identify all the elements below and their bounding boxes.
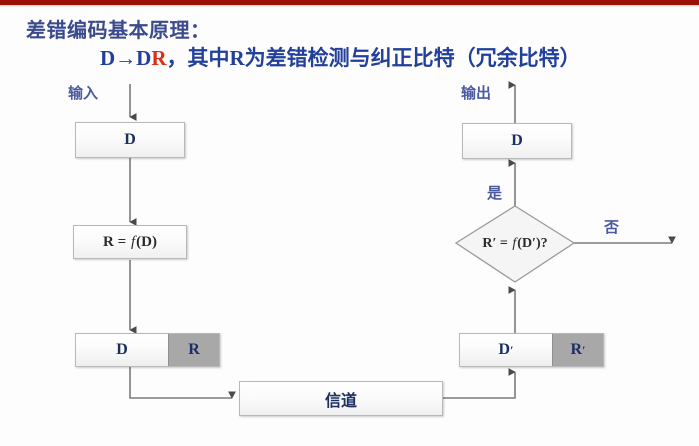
label-output: 输出 [461, 82, 491, 103]
decision-function: f [511, 236, 517, 252]
decision-equals: = [500, 236, 508, 252]
node-output-data-label: D [511, 132, 523, 150]
node-received-frame[interactable]: D′ R′ [459, 333, 604, 367]
node-encoder-data[interactable]: D [75, 122, 185, 158]
label-input: 输入 [68, 82, 98, 103]
received-redundancy-label: R [571, 341, 583, 359]
wire-channel-to-received [443, 372, 515, 398]
node-decision-label: R′ = f(D′)? [456, 206, 574, 282]
frame-data-cell: D [76, 334, 168, 366]
received-data-prime: ′ [510, 343, 513, 358]
decision-argument: (D′)? [517, 236, 547, 252]
node-compute-redundancy-label: R = f(D) [103, 234, 157, 251]
received-data-label: D [499, 341, 511, 359]
node-encoder-data-label: D [124, 131, 136, 149]
connector-layer [0, 0, 699, 446]
node-channel[interactable]: 信道 [239, 381, 443, 416]
wire-frame-to-channel [130, 367, 232, 398]
label-no: 否 [604, 216, 619, 237]
compute-argument: (D) [136, 234, 157, 250]
compute-equals: = [118, 234, 127, 250]
received-redundancy-cell: R′ [552, 334, 603, 366]
node-compute-redundancy[interactable]: R = f(D) [73, 225, 187, 259]
frame-redundancy-label: R [188, 341, 200, 359]
decision-lhs: R′ [482, 236, 496, 252]
slide-canvas: 差错编码基本原理： D→DR，其中R为差错检测与纠正比特（冗余比特） [0, 0, 699, 446]
received-redundancy-prime: ′ [582, 343, 585, 358]
label-yes: 是 [487, 182, 502, 203]
frame-redundancy-cell: R [168, 334, 219, 366]
compute-lhs: R [103, 234, 114, 250]
received-data-cell: D′ [460, 334, 552, 366]
node-frame-data-redundancy[interactable]: D R [75, 333, 220, 367]
frame-data-label: D [116, 341, 128, 359]
node-channel-label: 信道 [325, 387, 357, 411]
node-output-data[interactable]: D [462, 123, 572, 159]
node-decision[interactable]: R′ = f(D′)? [456, 206, 574, 282]
